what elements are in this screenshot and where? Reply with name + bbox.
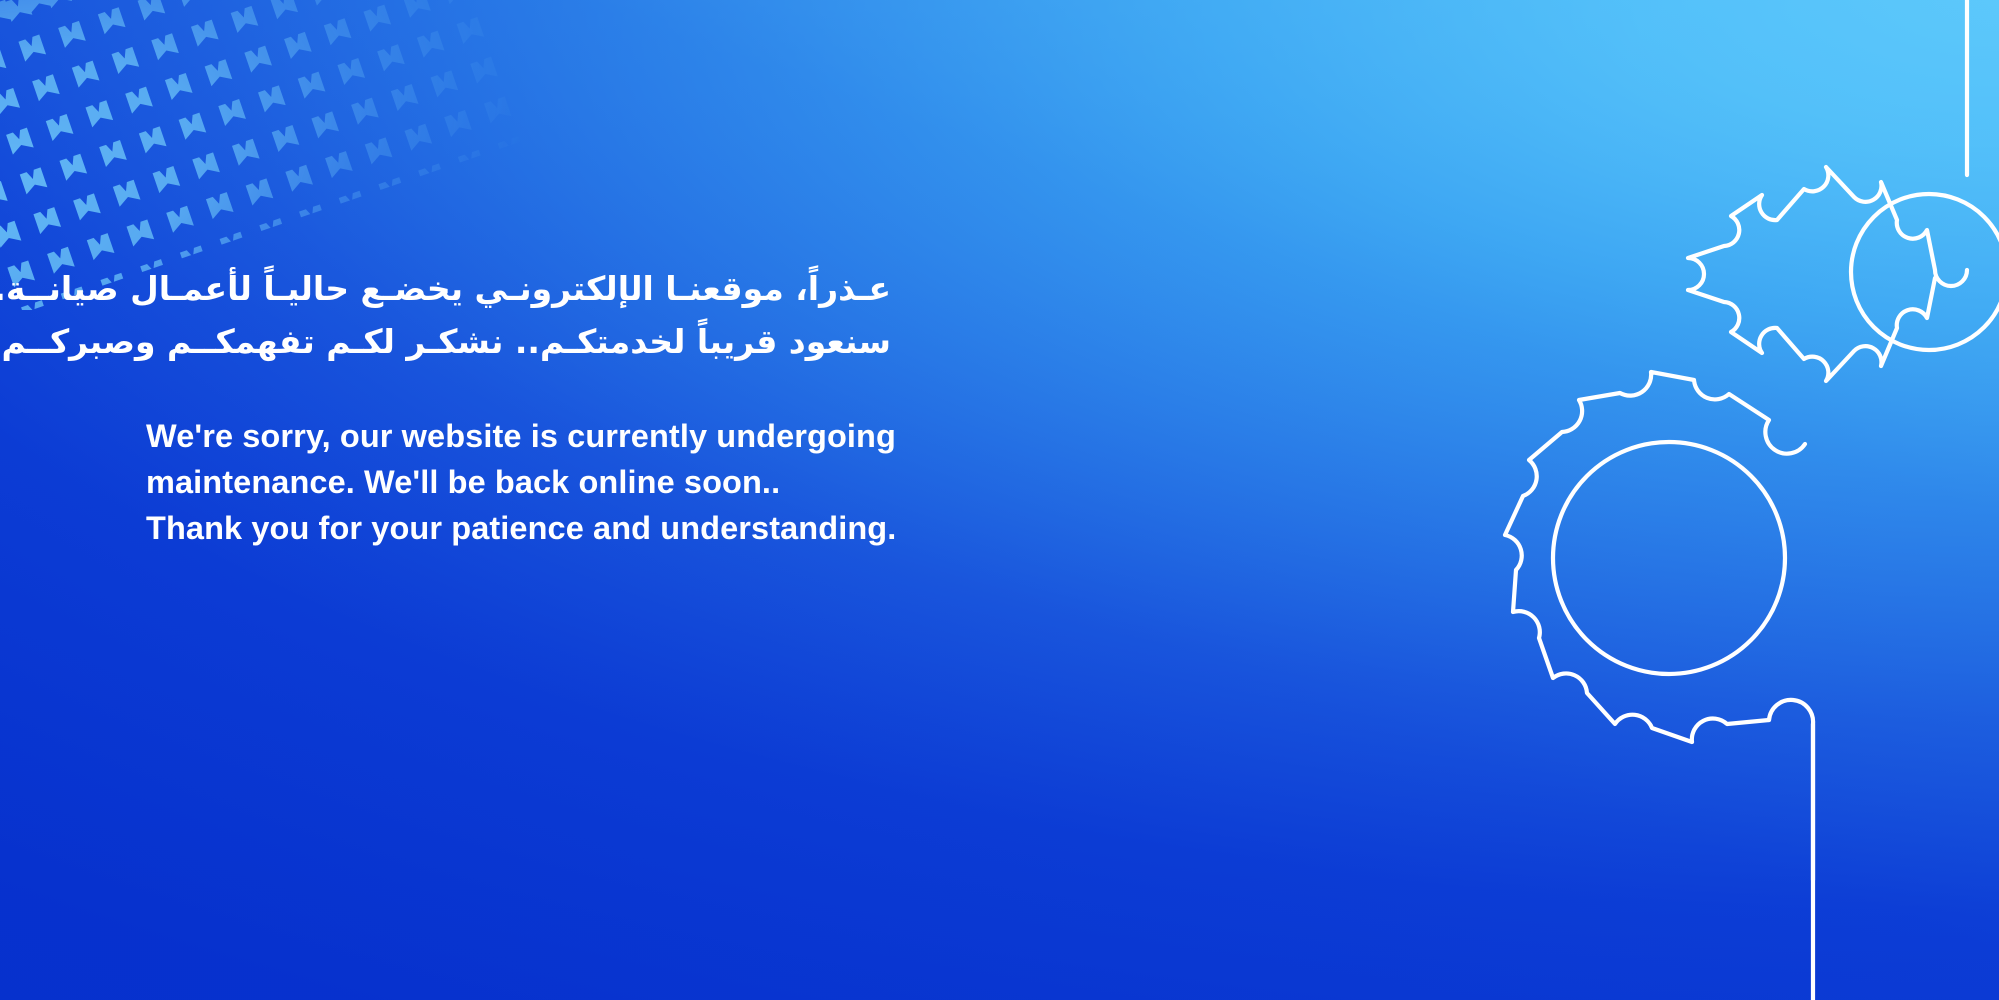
- english-line-1: We're sorry, our website is currently un…: [146, 413, 1146, 459]
- arabic-line-1: عـذراً، موقعنـا الإلكترونـي يخضـع حاليـا…: [146, 262, 891, 315]
- english-message: We're sorry, our website is currently un…: [146, 413, 1146, 551]
- maintenance-page: عـذراً، موقعنـا الإلكترونـي يخضـع حاليـا…: [0, 0, 1999, 1000]
- message-content: عـذراً، موقعنـا الإلكترونـي يخضـع حاليـا…: [146, 262, 1146, 551]
- arabic-line-2: سنعود قريباً لخدمتكـم.. نشكـر لكـم تفهمك…: [146, 315, 891, 368]
- english-line-2: maintenance. We'll be back online soon..: [146, 459, 1146, 505]
- arabic-message: عـذراً، موقعنـا الإلكترونـي يخضـع حاليـا…: [146, 262, 891, 369]
- english-line-3: Thank you for your patience and understa…: [146, 505, 1146, 551]
